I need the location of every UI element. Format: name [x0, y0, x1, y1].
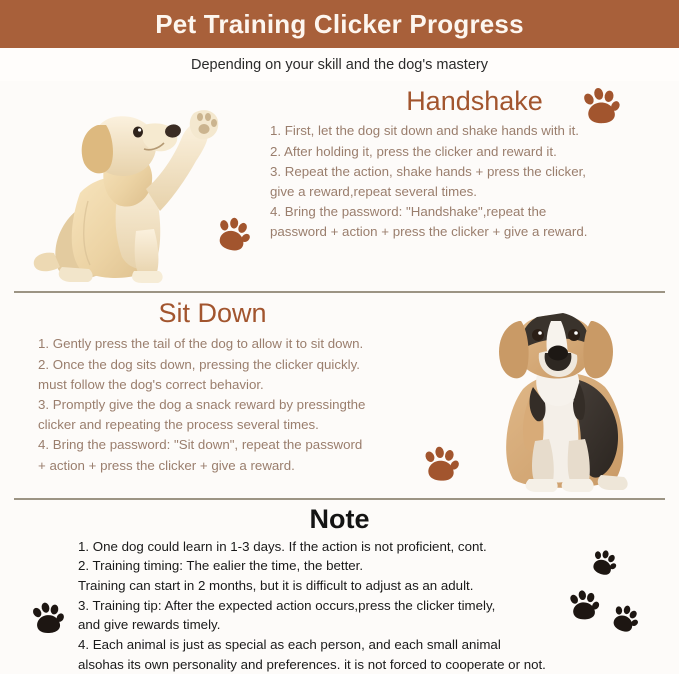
handshake-step-line: 3. Repeat the action, shake hands + pres… [270, 162, 669, 182]
sitdown-step-line: 1. Gently press the tail of the dog to a… [38, 334, 447, 354]
sitdown-step-line: 2. Once the dog sits down, pressing the … [38, 355, 447, 375]
note-line: alsohas its own personality and preferen… [78, 655, 639, 674]
sitdown-step-line: 4. Bring the password: "Sit down", repea… [38, 435, 447, 455]
handshake-image-column [0, 81, 270, 291]
paw-icon-note-left [25, 597, 69, 641]
section-sit-down: Sit Down 1. Gently press the tail of the… [0, 293, 679, 498]
paw-icon-handshake-lower [209, 212, 254, 257]
sitdown-step-line: clicker and repeating the process severa… [38, 415, 447, 435]
handshake-step-line: 4. Bring the password: "Handshake",repea… [270, 202, 669, 222]
section-title-sit-down: Sit Down [0, 299, 455, 327]
section-title-note: Note [0, 505, 679, 535]
dog-image-beagle [465, 291, 665, 496]
note-line: 3. Training tip: After the expected acti… [78, 596, 639, 616]
sitdown-step-line: + action + press the clicker + give a re… [38, 456, 447, 476]
sitdown-step-line: 3. Promptly give the dog a snack reward … [38, 395, 447, 415]
dog-image-labrador [18, 81, 268, 291]
paw-icon-note-mid-right [563, 586, 603, 626]
note-line: Training can start in 2 months, but it i… [78, 576, 639, 596]
note-line: and give rewards timely. [78, 615, 639, 635]
sitdown-steps: 1. Gently press the tail of the dog to a… [0, 334, 455, 475]
note-line: 4. Each animal is just as special as eac… [78, 635, 639, 655]
header-bar: Pet Training Clicker Progress [0, 0, 679, 48]
subtitle-row: Depending on your skill and the dog's ma… [0, 48, 679, 81]
paw-icon-handshake-title [575, 82, 625, 132]
section-note: Note 1. One dog could learn in 1-3 days.… [0, 500, 679, 655]
section-handshake: Handshake 1. First, let the dog sit down… [0, 81, 679, 291]
handshake-step-line: 2. After holding it, press the clicker a… [270, 142, 669, 162]
handshake-step-line: give a reward,repeat several times. [270, 182, 669, 202]
handshake-steps: 1. First, let the dog sit down and shake… [270, 121, 679, 242]
sitdown-step-line: must follow the dog's correct behavior. [38, 375, 447, 395]
section-title-handshake: Handshake [406, 87, 543, 115]
note-line: 1. One dog could learn in 1-3 days. If t… [78, 537, 639, 557]
note-line: 2. Training timing: The ealier the time,… [78, 556, 639, 576]
handshake-step-line: password + action + press the clicker + … [270, 222, 669, 242]
page-subtitle: Depending on your skill and the dog's ma… [191, 57, 488, 73]
paw-icon-sitdown [418, 443, 463, 488]
page-title: Pet Training Clicker Progress [155, 9, 524, 40]
sitdown-text-column: Sit Down 1. Gently press the tail of the… [0, 293, 455, 498]
sitdown-image-column [455, 293, 679, 498]
